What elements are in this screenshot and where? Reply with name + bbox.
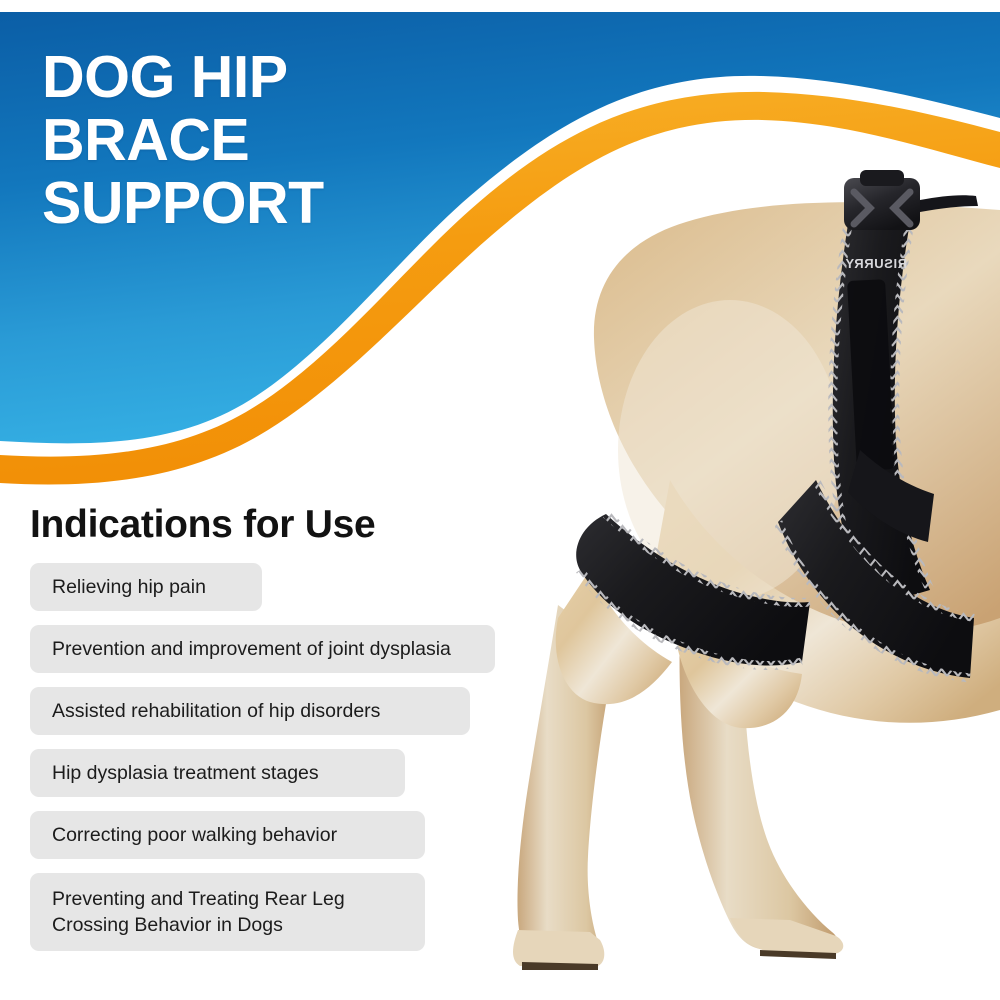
indication-item: Assisted rehabilitation of hip disorders — [30, 687, 470, 735]
indication-item: Prevention and improvement of joint dysp… — [30, 625, 495, 673]
indication-item: Relieving hip pain — [30, 563, 262, 611]
banner-title: DOG HIP BRACE SUPPORT — [42, 46, 462, 235]
indication-item: Correcting poor walking behavior — [30, 811, 425, 859]
product-photo: RISURRY — [430, 150, 1000, 1000]
strap-brand-text: RISURRY — [845, 256, 907, 271]
title-line-3: SUPPORT — [42, 172, 462, 235]
product-marketing-image: DOG HIP BRACE SUPPORT — [0, 0, 1000, 1000]
title-line-1: DOG HIP — [42, 46, 462, 109]
indication-item: Preventing and Treating Rear Leg Crossin… — [30, 873, 425, 951]
indications-section: Indications for Use Relieving hip pain P… — [30, 503, 500, 965]
indications-heading: Indications for Use — [30, 503, 500, 547]
indication-item: Hip dysplasia treatment stages — [30, 749, 405, 797]
title-line-2: BRACE — [42, 109, 462, 172]
